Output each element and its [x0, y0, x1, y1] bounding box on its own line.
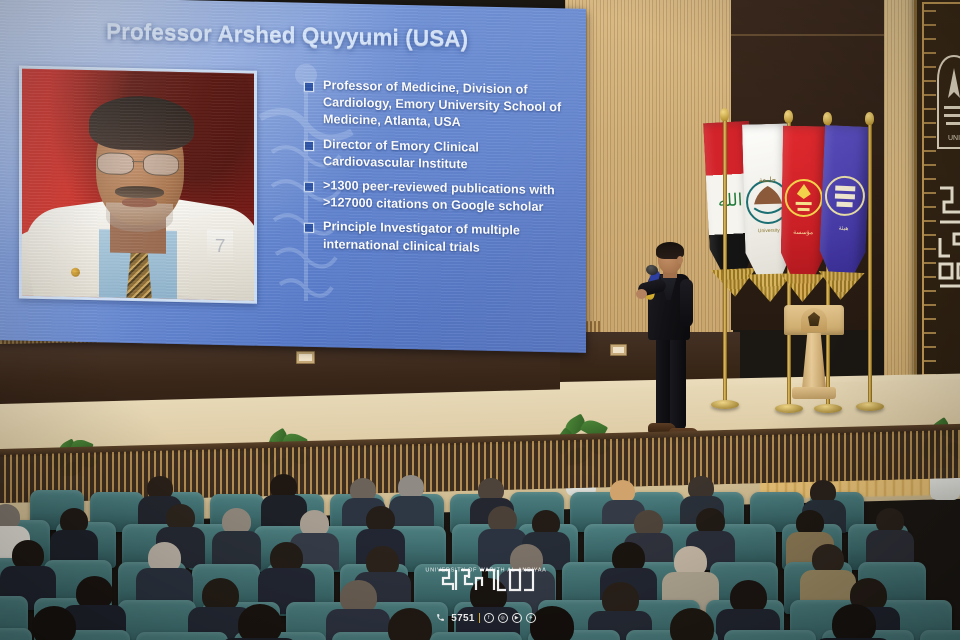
presenter-leg	[670, 337, 686, 429]
svg-text:هيئة: هيئة	[838, 225, 848, 232]
portrait-lapel-pin-icon	[71, 267, 80, 276]
auditorium-scene: UNI الله	[0, 0, 960, 640]
bullet-text: Principle Investigator of multiple inter…	[323, 219, 566, 259]
kufic-calligraphy-icon	[935, 182, 960, 302]
bullet-marker-icon	[304, 82, 314, 92]
presenter-arm	[680, 279, 693, 327]
flag-pole	[723, 118, 727, 406]
decorative-kufic-panel: UNI	[914, 0, 960, 390]
wooden-lectern	[784, 305, 844, 405]
svg-text:جامعة: جامعة	[759, 176, 777, 184]
bullet-marker-icon	[304, 223, 314, 233]
wall-outlet-icon	[610, 344, 627, 356]
youtube-icon[interactable]: ▶	[512, 613, 522, 623]
slide-title: Professor Arshed Quyyumi (USA)	[106, 18, 526, 53]
list-item: Principle Investigator of multiple inter…	[304, 218, 566, 258]
wall-outlet-icon	[296, 351, 315, 364]
portrait-glasses-right	[143, 153, 180, 176]
university-emblem-icon: UNI	[937, 52, 960, 162]
list-item: Director of Emory Clinical Cardiovascula…	[304, 135, 566, 175]
flag-finial-icon	[865, 112, 874, 125]
flag-pole	[868, 122, 872, 408]
flag-base	[814, 404, 842, 413]
instagram-icon[interactable]: ◎	[498, 613, 508, 623]
flag-finial-icon	[720, 108, 729, 121]
slide-bullet-list: Professor of Medicine, Division of Cardi…	[304, 77, 566, 266]
contact-row: 5751 f ◎ ▶ ✈	[430, 609, 542, 627]
portrait-glasses-left	[97, 152, 134, 175]
bullet-text: >1300 peer-reviewed publications with >1…	[323, 177, 566, 217]
phone-icon	[436, 609, 445, 627]
bullet-text: Director of Emory Clinical Cardiovascula…	[323, 136, 566, 176]
portrait-hair	[89, 95, 193, 152]
channel-watermark: UNIVERSITY OF WARITH AL-ANBIYAA 5751 f ◎…	[430, 566, 542, 627]
lectern-stem	[802, 333, 826, 389]
telegram-icon[interactable]: ✈	[526, 613, 536, 623]
svg-text:الله: الله	[717, 190, 743, 210]
wall-trim-line	[731, 34, 886, 36]
flag-purple-institution: هيئة	[817, 125, 871, 301]
presenter-ear	[677, 256, 683, 264]
facebook-icon[interactable]: f	[484, 613, 494, 623]
phone-number[interactable]: 5751	[451, 613, 474, 624]
flag-base	[856, 402, 884, 411]
flag-finial-icon	[784, 110, 793, 123]
speaker-portrait-image: 7	[22, 69, 254, 301]
portrait-badge: 7	[207, 229, 233, 264]
flag-finial-icon	[823, 112, 832, 125]
bullet-text: Professor of Medicine, Division of Cardi…	[323, 77, 566, 134]
svg-text:مؤسسة: مؤسسة	[793, 229, 813, 236]
divider	[479, 613, 480, 623]
bullet-marker-icon	[304, 182, 314, 192]
flag-base	[711, 400, 739, 409]
svg-text:UNI: UNI	[948, 135, 960, 142]
university-logo-subtitle: UNIVERSITY OF WARITH AL-ANBIYAA	[399, 567, 573, 573]
projection-screen: Professor Arshed Quyyumi (USA) 7	[0, 0, 586, 353]
list-item: >1300 peer-reviewed publications with >1…	[304, 177, 566, 217]
bullet-marker-icon	[304, 140, 314, 150]
presenter-hand	[636, 289, 647, 299]
svg-text:University: University	[758, 228, 781, 235]
portrait-mouth	[122, 198, 157, 208]
portrait-frame: 7	[19, 66, 257, 304]
flag-base	[775, 404, 803, 413]
portrait-glasses-bridge	[132, 161, 144, 163]
presenter	[636, 245, 700, 450]
university-logo: UNIVERSITY OF WARITH AL-ANBIYAA	[430, 567, 542, 603]
list-item: Professor of Medicine, Division of Cardi…	[304, 77, 566, 134]
lectern-foot	[792, 387, 836, 399]
